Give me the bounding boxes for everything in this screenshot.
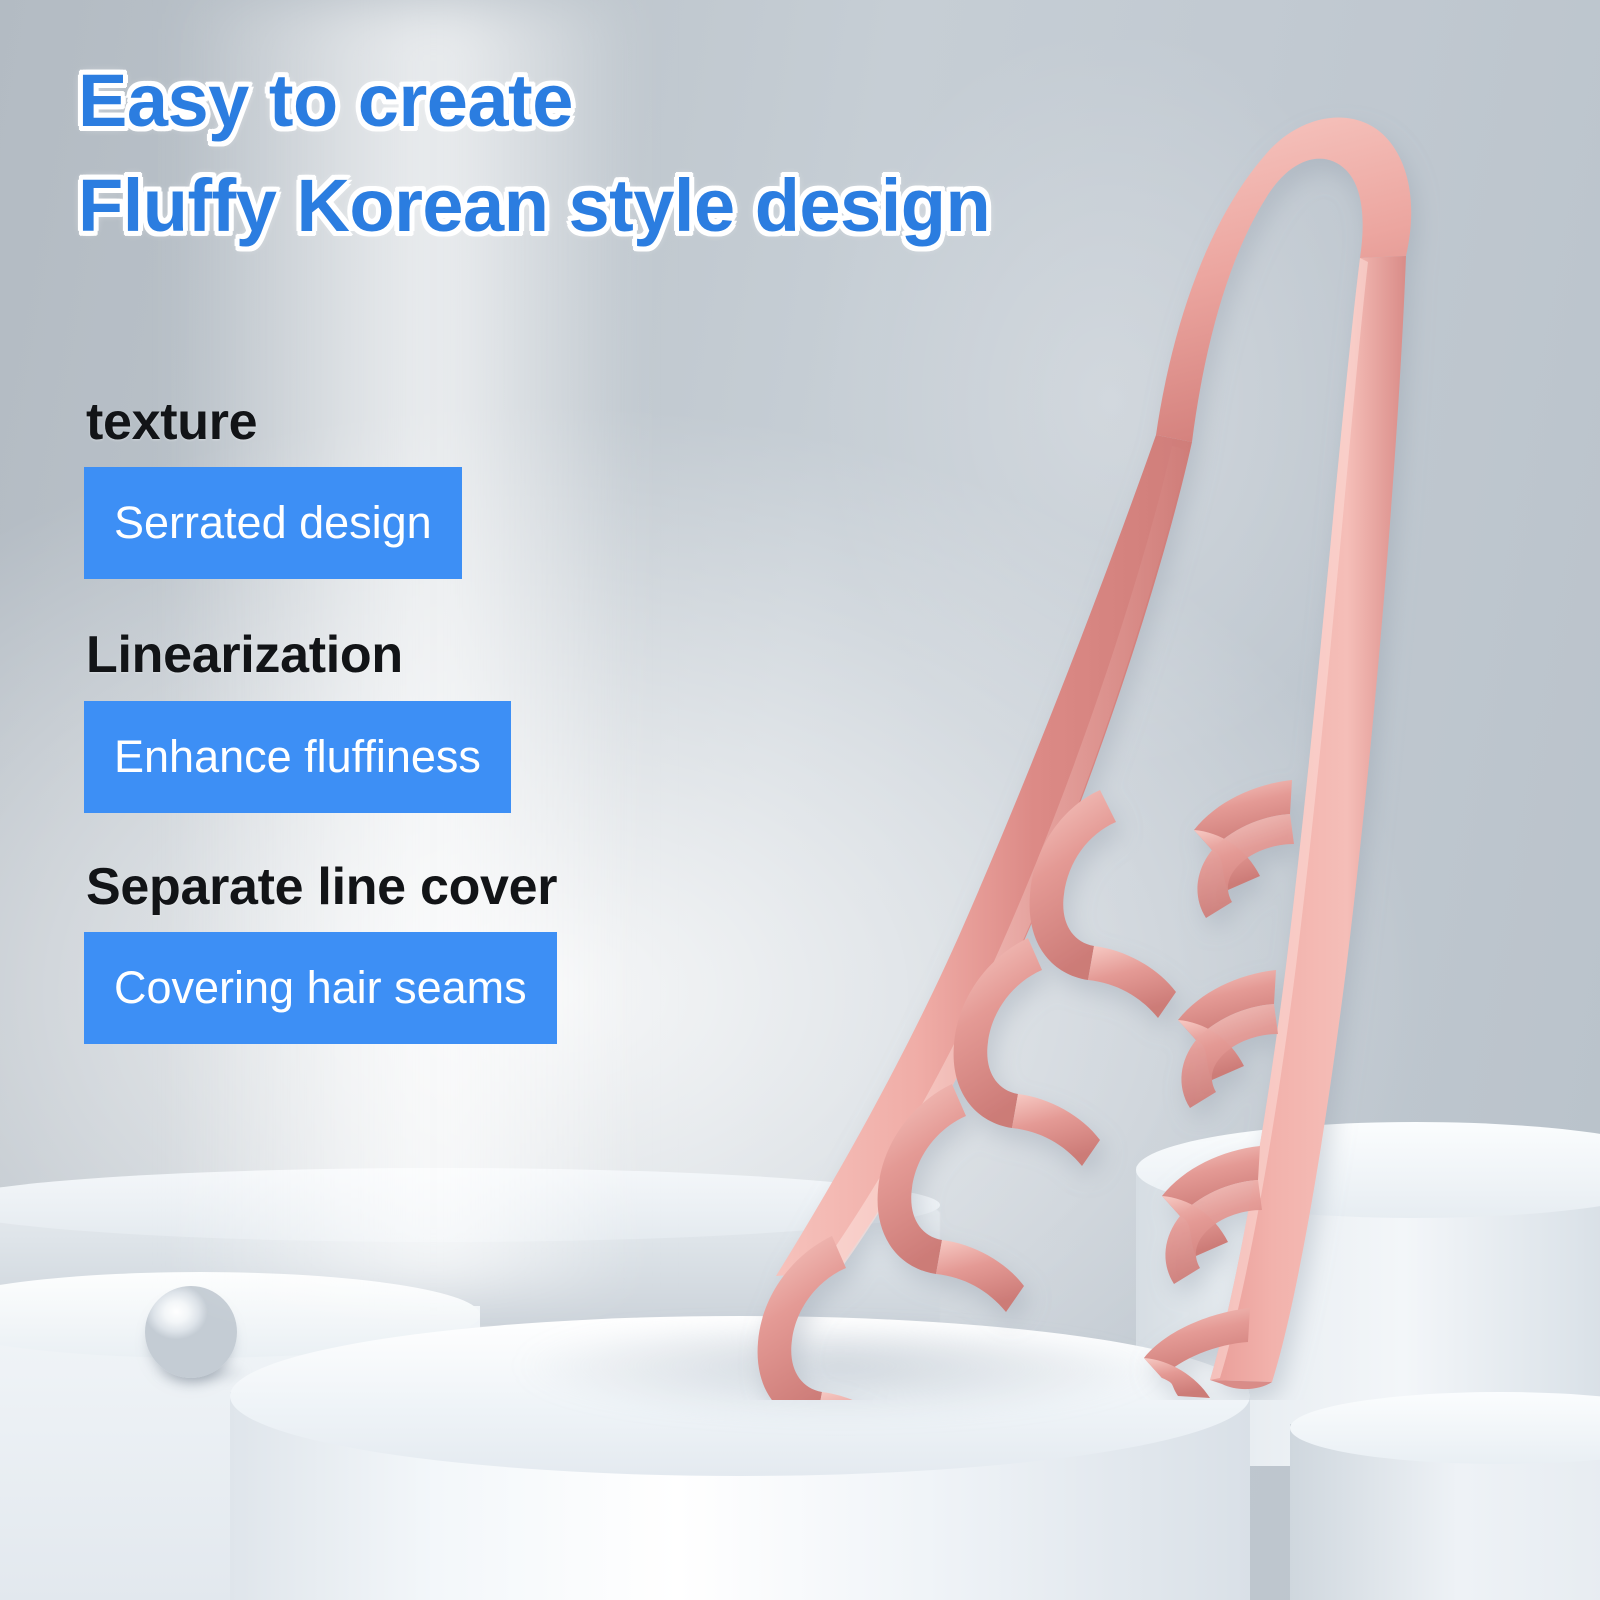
clip-tooth-left-2-tip (1012, 1094, 1100, 1166)
feature-item-texture: texture Serrated design (84, 392, 744, 579)
feature-chip-enhance-fluffiness: Enhance fluffiness (84, 701, 511, 813)
headline-line-1: Easy to create (78, 48, 1078, 153)
feature-chip-covering-hair-seams: Covering hair seams (84, 932, 557, 1044)
feature-title-texture: texture (86, 392, 744, 453)
clip-left-teeth (758, 790, 1176, 1400)
headline-line-2: Fluffy Korean style design (78, 153, 1078, 258)
product-marketing-image: Easy to create Fluffy Korean style desig… (0, 0, 1600, 1600)
clip-tooth-left-1-tip (1088, 946, 1176, 1018)
clip-tooth-left-3-tip (936, 1240, 1024, 1312)
clip-tooth-left-4-tip (816, 1392, 904, 1400)
feature-title-separate-line-cover: Separate line cover (86, 857, 744, 918)
feature-item-separate-line-cover: Separate line cover Covering hair seams (84, 857, 744, 1044)
feature-list: texture Serrated design Linearization En… (84, 392, 744, 1054)
feature-title-linearization: Linearization (86, 625, 744, 686)
white-sphere-ornament (145, 1286, 237, 1378)
feature-item-linearization: Linearization Enhance fluffiness (84, 625, 744, 812)
clip-tooth-left-4 (758, 1236, 846, 1400)
clip-geometry (758, 118, 1412, 1400)
headline-block: Easy to create Fluffy Korean style desig… (78, 48, 1078, 258)
clip-left-arm (776, 435, 1192, 1276)
feature-chip-serrated-design: Serrated design (84, 467, 462, 579)
